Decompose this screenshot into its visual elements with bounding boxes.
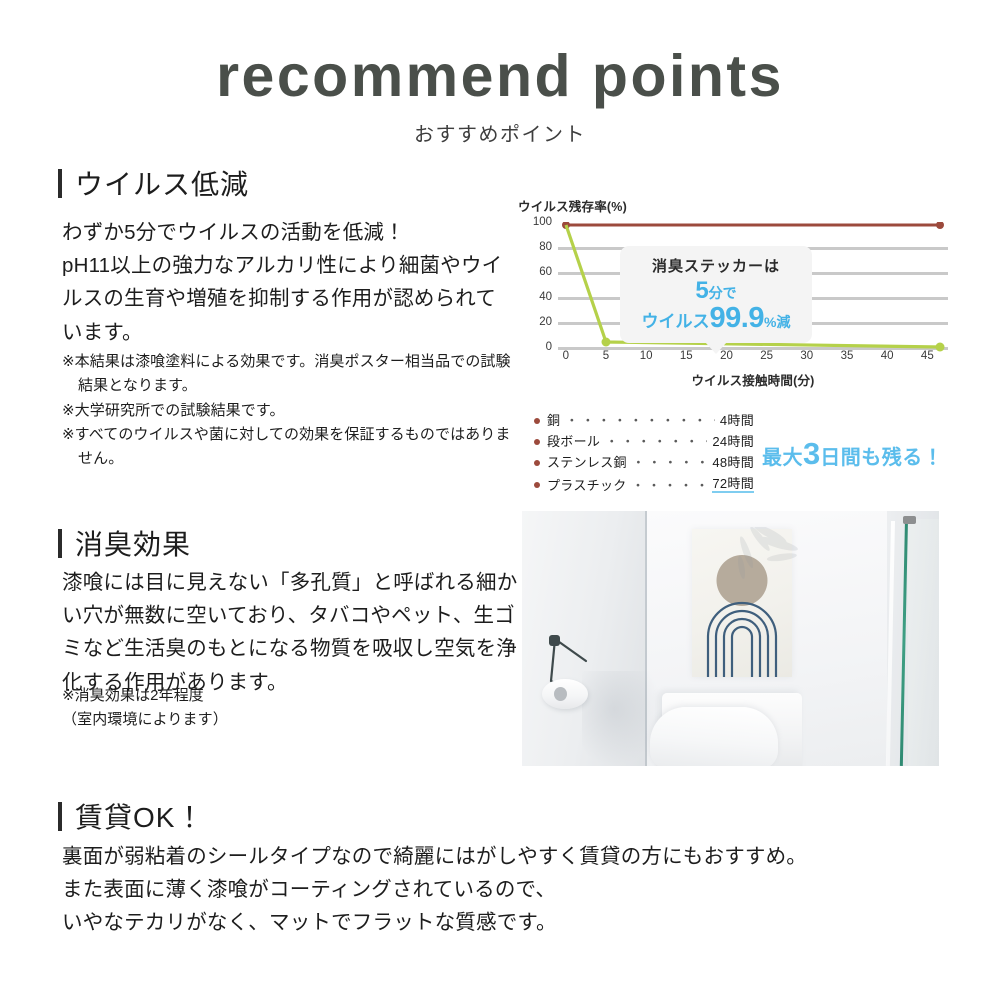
photo-poster-arch (704, 599, 780, 677)
callout-arrow (705, 342, 727, 354)
heading-accent-bar (58, 169, 62, 198)
x-tick-40: 40 (881, 350, 894, 362)
max-days-highlight: 最大3日間も残る！ (762, 438, 943, 469)
y-tick-60: 60 (522, 266, 552, 278)
chart-legend: 銅 ・・・・・・・・・・・ 4時間 段ボール ・・・・・・・・ 24時間 ステン… (534, 414, 754, 501)
legend-bullet-icon (534, 482, 540, 488)
callout-virus-word: ウイルス (642, 312, 710, 331)
section-note-deodorant: ※消臭効果は2年程度 （室内環境によります） (62, 684, 442, 733)
x-tick-5: 5 (603, 350, 609, 362)
legend-row-plastic: プラスチック ・・・・・ 72時間 (534, 477, 754, 493)
photo-glass-panel (908, 519, 939, 766)
legend-leader-dots: ・・・・・ (632, 456, 708, 469)
legend-bullet-icon (534, 439, 540, 445)
y-tick-40: 40 (522, 291, 552, 303)
heading-accent-bar (58, 802, 62, 831)
photo-poster (692, 529, 792, 677)
y-tick-80: 80 (522, 241, 552, 253)
legend-label-cardboard: 段ボール (547, 435, 600, 448)
photo-toilet-lid (650, 707, 778, 766)
section-body-virus: わずか5分でウイルスの活動を低減！ pH11以上の強力なアルカリ性により細菌やウ… (62, 216, 510, 349)
y-tick-0: 0 (522, 341, 552, 353)
callout-line-1: 消臭ステッカーは (620, 255, 812, 276)
legend-value-copper: 4時間 (720, 414, 754, 427)
callout-line-2: 5分で (620, 279, 812, 303)
chart-y-axis-title: ウイルス残存率(%) (518, 196, 627, 215)
legend-label-copper: 銅 (547, 414, 560, 427)
max-days-prefix: 最大 (762, 447, 803, 469)
note-virus-1: ※本結果は漆喰塗料による効果です。消臭ポスター相当品での試験結果となります。 (62, 350, 514, 399)
legend-value-cardboard: 24時間 (712, 435, 754, 448)
max-days-number: 3 (803, 436, 820, 471)
section-heading-virus: ウイルス低減 (58, 163, 249, 203)
heading-accent-bar (58, 529, 62, 558)
page-header: recommend points おすすめポイント (0, 46, 1000, 147)
photo-glass-clip (903, 516, 916, 524)
note-virus-2: ※大学研究所での試験結果です。 (62, 399, 514, 423)
chart-x-axis-title: ウイルス接触時間(分) (558, 370, 948, 389)
section-heading-deodorant-label: 消臭効果 (75, 523, 191, 563)
section-heading-deodorant: 消臭効果 (58, 523, 191, 563)
section-body-deodorant: 漆喰には目に見えない「多孔質」と呼ばれる細かい穴が無数に空いており、タバコやペッ… (62, 566, 522, 699)
x-tick-25: 25 (760, 350, 773, 362)
x-tick-35: 35 (841, 350, 854, 362)
callout-percent-unit: %減 (764, 314, 790, 330)
chart-y-tick-labels: 100 80 60 40 20 0 (518, 222, 552, 347)
photo-toilet-paper-core (554, 687, 567, 701)
recommend-points-page: recommend points おすすめポイント ウイルス低減 わずか5分でウ… (0, 0, 1000, 1000)
legend-row-stainless: ステンレス銅 ・・・・・ 48時間 (534, 456, 754, 469)
legend-label-plastic: プラスチック (547, 479, 627, 492)
max-days-suffix: 日間も残る！ (820, 447, 943, 469)
toilet-room-photo (522, 511, 939, 766)
section-heading-rental: 賃貸OK！ (58, 796, 204, 836)
note-virus-3: ※すべてのウイルスや菌に対しての効果を保証するものではありません。 (62, 423, 514, 472)
series-point-sticker-5min (602, 338, 611, 347)
chart-callout-bubble: 消臭ステッカーは 5分で ウイルス99.9%減 (620, 246, 812, 343)
y-tick-100: 100 (522, 216, 552, 228)
callout-percent-number: 99.9 (710, 302, 764, 334)
callout-line-3: ウイルス99.9%減 (620, 304, 812, 333)
legend-row-cardboard: 段ボール ・・・・・・・・ 24時間 (534, 435, 754, 448)
legend-label-stainless: ステンレス銅 (547, 456, 627, 469)
legend-bullet-icon (534, 460, 540, 466)
page-title: recommend points (0, 46, 1000, 108)
x-tick-45: 45 (921, 350, 934, 362)
legend-value-stainless: 48時間 (712, 456, 754, 469)
legend-value-plastic: 72時間 (712, 477, 754, 493)
x-tick-15: 15 (680, 350, 693, 362)
section-heading-virus-label: ウイルス低減 (75, 163, 249, 203)
page-subtitle: おすすめポイント (0, 118, 1000, 147)
callout-minutes-unit: 分で (709, 285, 737, 301)
section-body-rental: 裏面が弱粘着のシールタイプなので綺麗にはがしやすく賃貸の方にもおすすめ。 また表… (62, 840, 862, 940)
legend-leader-dots: ・・・・・・・・ (605, 435, 707, 448)
x-tick-30: 30 (800, 350, 813, 362)
y-tick-20: 20 (522, 316, 552, 328)
photo-paper-holder-knob (549, 635, 560, 646)
legend-leader-dots: ・・・・・ (632, 479, 708, 492)
section-notes-virus: ※本結果は漆喰塗料による効果です。消臭ポスター相当品での試験結果となります。 ※… (62, 350, 514, 471)
legend-bullet-icon (534, 418, 540, 424)
section-heading-rental-label: 賃貸OK！ (75, 796, 204, 836)
x-tick-10: 10 (640, 350, 653, 362)
legend-leader-dots: ・・・・・・・・・・・ (565, 414, 715, 427)
series-point-control-end (936, 222, 944, 229)
chart-x-tick-labels: 0 5 10 15 20 25 30 35 40 45 (558, 350, 948, 370)
callout-minutes-number: 5 (695, 277, 708, 304)
legend-row-copper: 銅 ・・・・・・・・・・・ 4時間 (534, 414, 754, 427)
x-tick-0: 0 (563, 350, 569, 362)
